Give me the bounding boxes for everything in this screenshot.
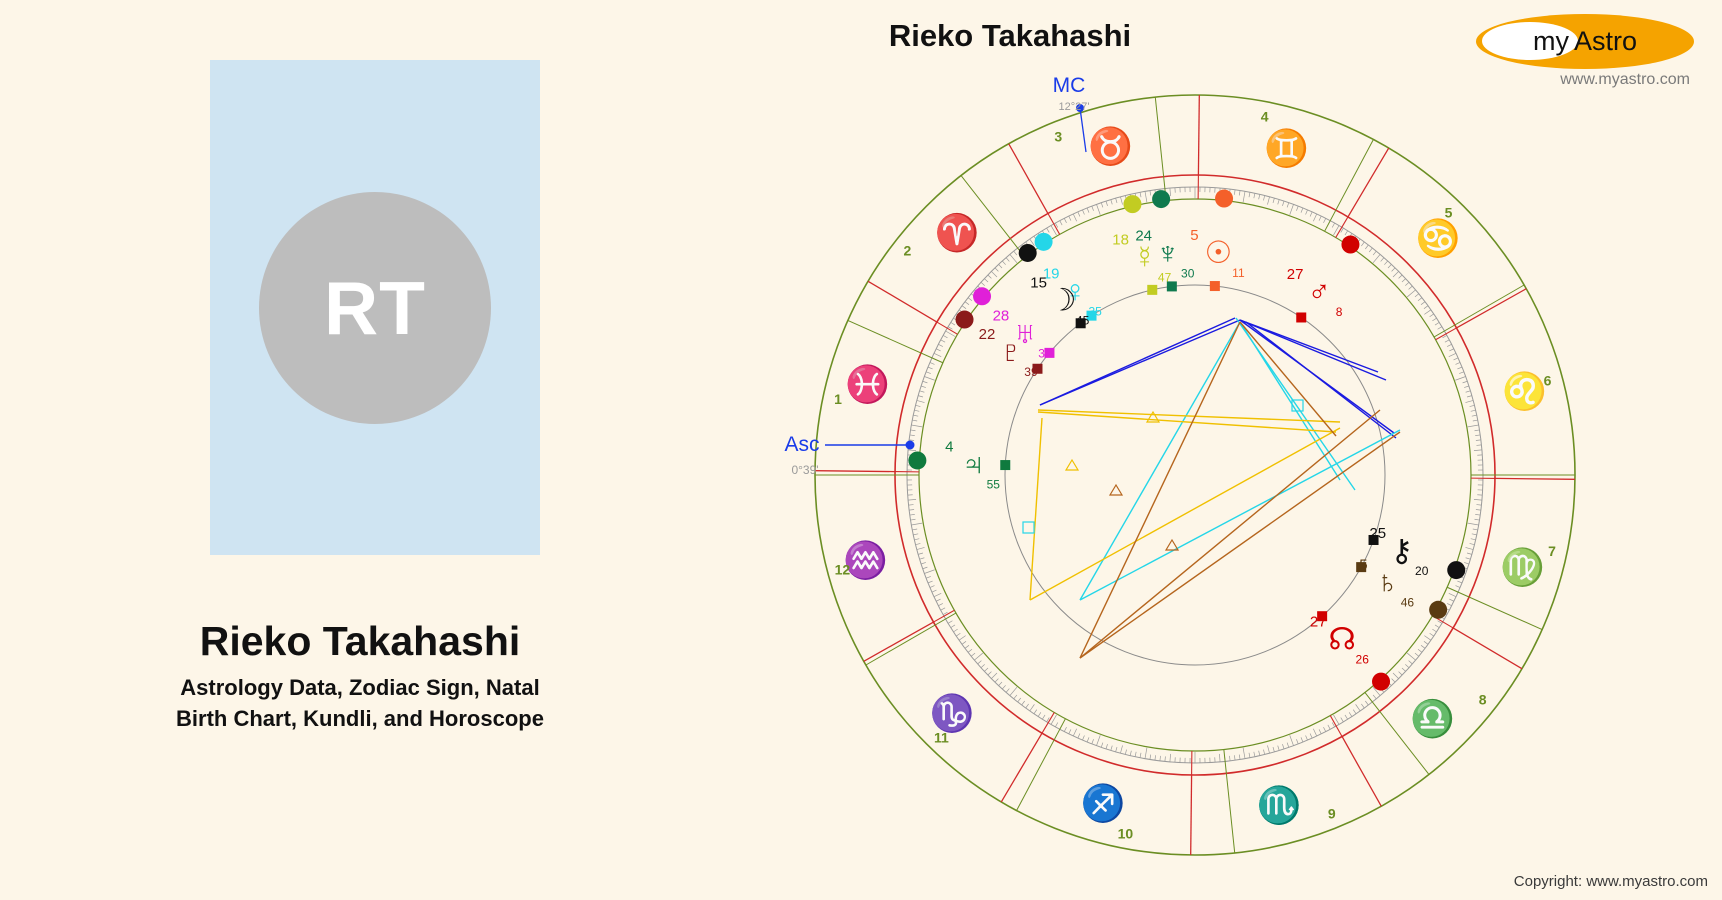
planet-glyph-neptune[interactable]: ♆ (1156, 236, 1179, 271)
asc-degree: 0°39' (791, 463, 818, 477)
planet-inner-marker-saturn (1356, 562, 1366, 572)
planet-glyph-moon[interactable]: ☽ (1049, 282, 1077, 317)
planet-marker-chiron[interactable] (1447, 561, 1465, 579)
planet-marker-neptune[interactable] (1152, 190, 1170, 208)
planet-marker-north-node[interactable] (1372, 673, 1390, 691)
planet-inner-marker-mars (1296, 312, 1306, 322)
person-subtitle: Astrology Data, Zodiac Sign, Natal Birth… (0, 672, 720, 734)
planet-marker-venus[interactable] (1035, 233, 1053, 251)
zodiac-glyph-sagittarius: ♐ (1081, 782, 1126, 823)
planet-minute-sun: 11 (1232, 266, 1245, 280)
planet-inner-marker-pluto (1032, 364, 1042, 374)
planet-glyph-north-node[interactable]: ☊ (1328, 621, 1356, 656)
planet-degree-sun: 5 (1190, 227, 1198, 244)
planet-marker-mercury[interactable] (1123, 195, 1141, 213)
planet-glyph-mercury[interactable]: ☿ (1133, 240, 1156, 275)
planet-inner-marker-sun (1210, 281, 1220, 291)
zodiac-glyph-capricorn: ♑ (929, 693, 974, 734)
planet-marker-moon[interactable] (1019, 244, 1037, 262)
planet-degree-mars: 27 (1287, 266, 1304, 283)
logo-astro-text: Astro (1574, 26, 1637, 57)
planet-minute-chiron: 20 (1415, 564, 1429, 578)
logo-text: my Astro (1476, 14, 1694, 69)
planet-marker-jupiter[interactable] (908, 451, 926, 469)
planet-minute-mercury: 47 (1158, 271, 1172, 285)
logo-my-text: my (1533, 26, 1569, 57)
zodiac-glyph-cancer: ♋ (1416, 217, 1461, 258)
planet-glyph-mars[interactable]: ♂ (1308, 274, 1331, 309)
zodiac-glyph-virgo: ♍ (1500, 547, 1545, 588)
house-number-11: 11 (934, 730, 949, 746)
zodiac-glyph-aries: ♈ (935, 212, 980, 253)
person-name: Rieko Takahashi (0, 618, 720, 665)
planet-glyph-pluto[interactable]: ♇ (999, 334, 1022, 369)
planet-degree-pluto: 22 (979, 326, 996, 343)
house-number-12: 12 (835, 561, 851, 577)
house-number-5: 5 (1445, 204, 1453, 220)
planet-minute-mars: 8 (1336, 305, 1343, 319)
logo-ellipse-icon: my Astro (1476, 14, 1694, 69)
zodiac-glyph-pisces: ♓ (845, 363, 890, 404)
asc-label: Asc (784, 433, 819, 456)
zodiac-glyph-libra: ♎ (1410, 698, 1455, 739)
planet-minute-saturn: 46 (1401, 596, 1415, 610)
person-subtitle-line2: Birth Chart, Kundli, and Horoscope (0, 703, 720, 734)
planet-marker-saturn[interactable] (1429, 601, 1447, 619)
planet-glyph-sun[interactable]: ☉ (1205, 235, 1233, 270)
zodiac-glyph-scorpio: ♏ (1257, 784, 1302, 825)
planet-glyph-chiron[interactable]: ⚷ (1390, 533, 1413, 568)
planet-marker-pluto[interactable] (956, 311, 974, 329)
planet-inner-marker-jupiter (1000, 460, 1010, 470)
profile-panel: RT Rieko Takahashi Astrology Data, Zodia… (0, 0, 720, 900)
planet-degree-uranus: 28 (993, 307, 1010, 324)
page-title: Rieko Takahashi (760, 18, 1260, 54)
zodiac-glyph-leo: ♌ (1502, 371, 1547, 412)
house-number-4: 4 (1261, 109, 1269, 125)
planet-marker-uranus[interactable] (973, 287, 991, 305)
aspect-lines (1030, 318, 1400, 658)
aspect-symbols (1023, 400, 1303, 550)
avatar: RT (259, 192, 491, 424)
planet-minute-north-node: 26 (1356, 652, 1370, 666)
planet-minute-neptune: 30 (1181, 267, 1195, 281)
natal-chart-svg[interactable]: ☉511♆2430☿1847♀1935☽1545♅2835♇2239♃455♂2… (780, 60, 1610, 890)
zodiac-glyph-gemini: ♊ (1264, 128, 1309, 169)
house-number-9: 9 (1328, 805, 1336, 821)
planet-degree-mercury: 18 (1112, 232, 1129, 249)
planet-inner-marker-mercury (1147, 285, 1157, 295)
house-number-8: 8 (1479, 692, 1487, 708)
planet-minute-jupiter: 55 (987, 477, 1001, 491)
planet-inner-marker-uranus (1044, 348, 1054, 358)
natal-chart-wheel[interactable]: ☉511♆2430☿1847♀1935☽1545♅2835♇2239♃455♂2… (780, 60, 1610, 890)
avatar-initials: RT (324, 265, 426, 351)
planet-inner-marker-north-node (1317, 611, 1327, 621)
zodiac-glyph-taurus: ♉ (1088, 126, 1133, 167)
house-number-1: 1 (834, 391, 842, 407)
mc-label: MC (1053, 74, 1086, 97)
planet-inner-marker-chiron (1369, 535, 1379, 545)
house-number-7: 7 (1548, 543, 1556, 559)
planet-marker-sun[interactable] (1215, 190, 1233, 208)
planet-inner-marker-moon (1076, 318, 1086, 328)
sign-dividers (815, 95, 1575, 855)
house-number-3: 3 (1054, 129, 1062, 145)
house-number-2: 2 (903, 242, 911, 258)
planet-degree-moon: 15 (1030, 274, 1047, 291)
house-number-10: 10 (1118, 825, 1134, 841)
astrology-report-page: RT Rieko Takahashi Astrology Data, Zodia… (0, 0, 1722, 900)
mc-degree: 12°27' (1059, 101, 1090, 113)
house-number-6: 6 (1544, 373, 1552, 389)
person-subtitle-line1: Astrology Data, Zodiac Sign, Natal (0, 672, 720, 703)
planet-glyph-jupiter[interactable]: ♃ (962, 446, 985, 481)
planet-glyph-saturn[interactable]: ♄ (1376, 565, 1399, 600)
avatar-placeholder: RT (210, 60, 540, 555)
planet-marker-mars[interactable] (1341, 236, 1359, 254)
planet-degree-jupiter: 4 (945, 438, 953, 455)
